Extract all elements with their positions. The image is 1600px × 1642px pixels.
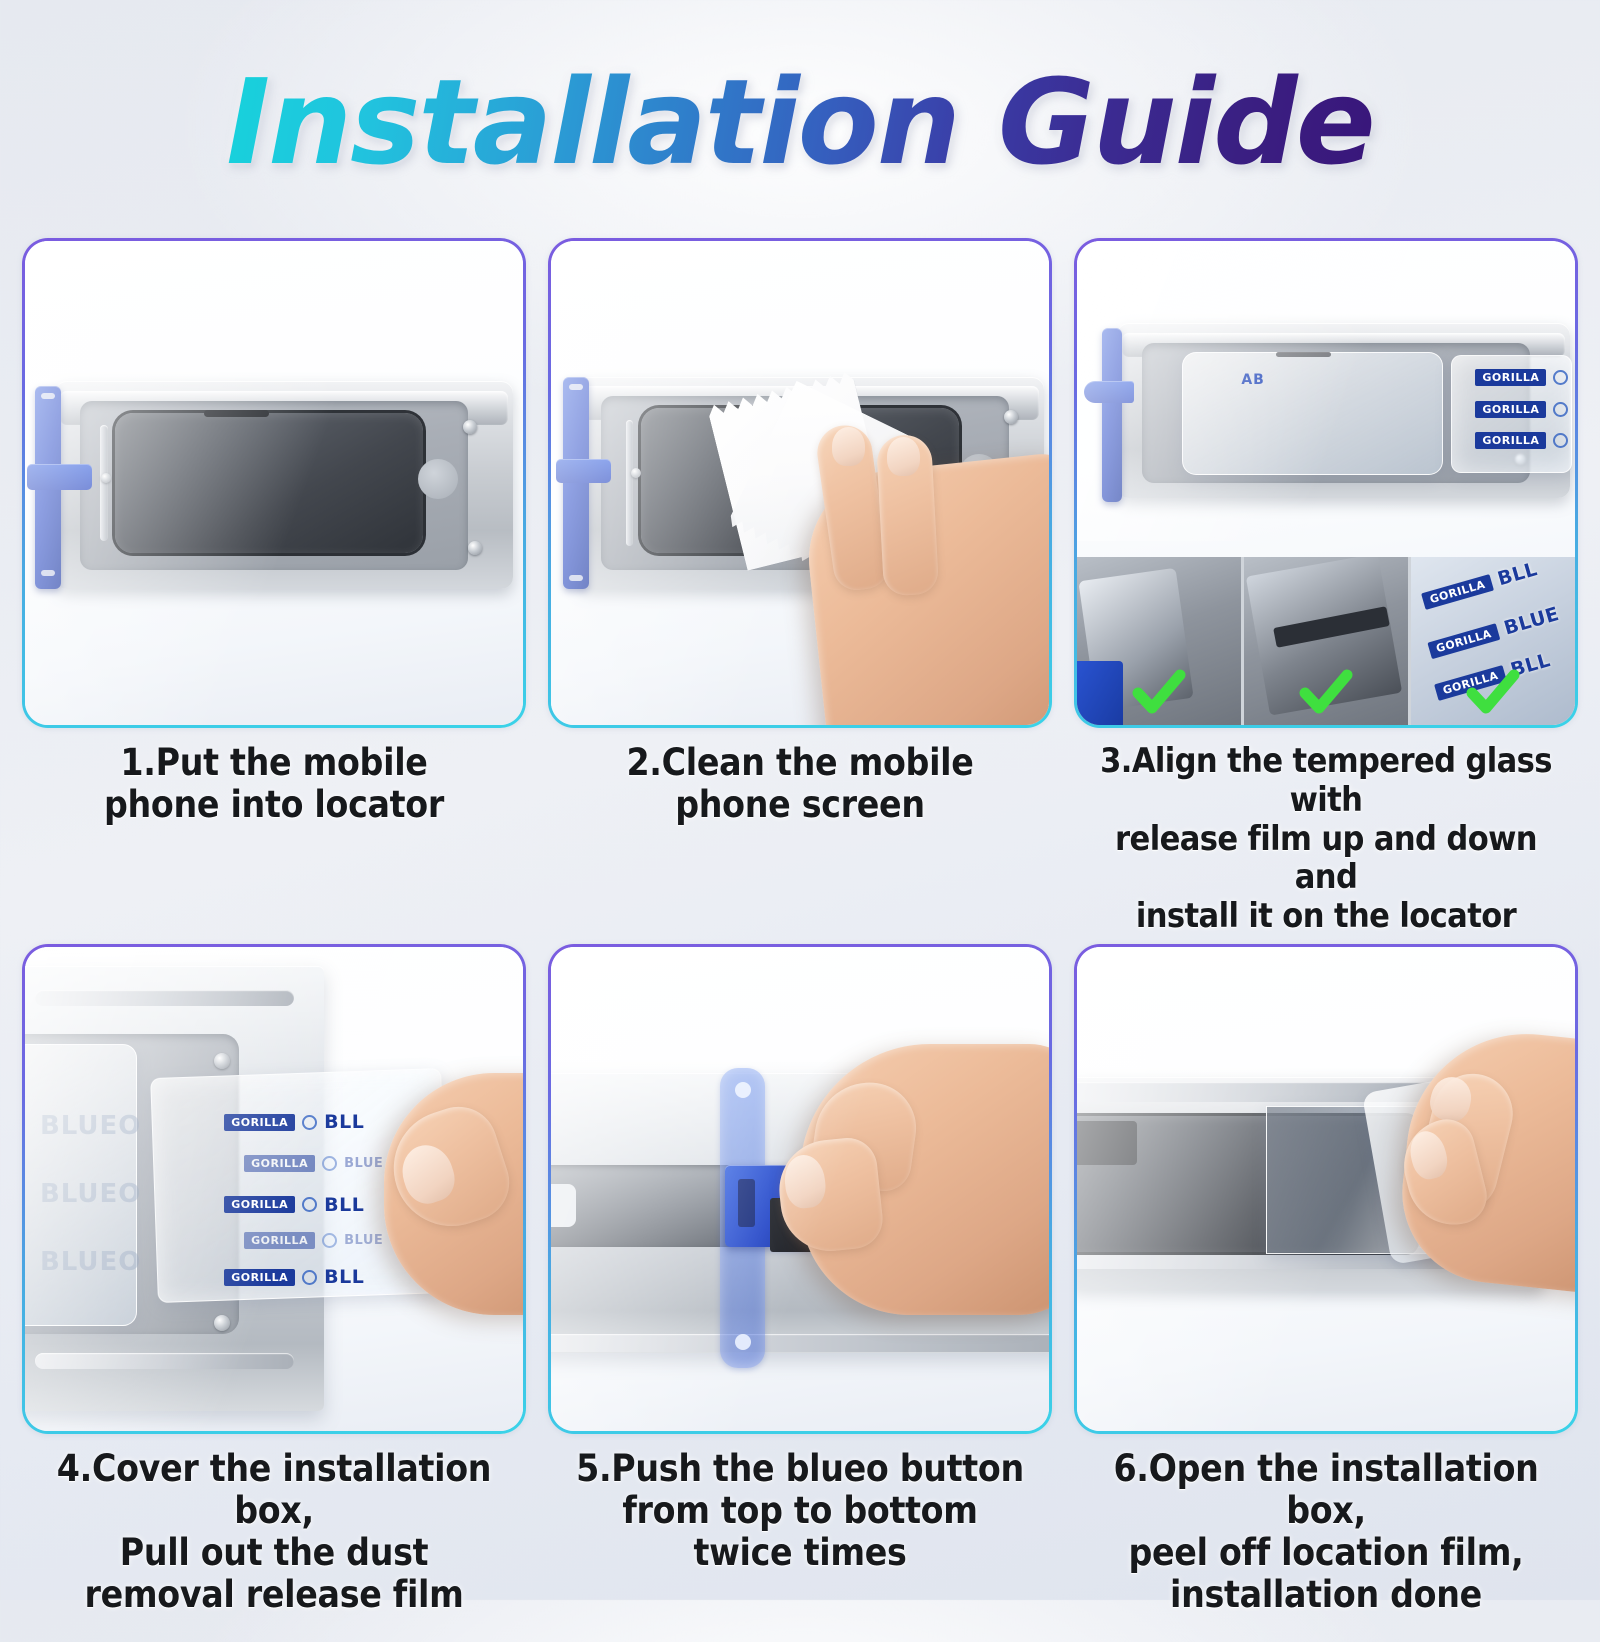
page-title: Installation Guide xyxy=(226,63,1374,181)
film-tag-dot xyxy=(322,1233,337,1248)
film-ghost-word: BLUEO xyxy=(40,1111,141,1141)
film-tag-word: BLUE xyxy=(344,1156,383,1171)
film-ghost-word: BLUEO xyxy=(40,1179,141,1209)
film-tag-chip: GORILLA xyxy=(1475,401,1546,418)
film-tag-chip: GORILLA xyxy=(1475,432,1546,449)
film-tag-word: BLUE xyxy=(344,1233,383,1248)
step-6-photo xyxy=(1074,944,1578,1434)
step-3-photo: AB GORILLA BLL GORILLA BLUE GORILLA xyxy=(1074,238,1578,728)
film-tag-chip: GORILLA xyxy=(1421,573,1494,609)
blue-pull-tab xyxy=(1084,381,1134,403)
step-4-caption: 4.Cover the installation box, Pull out t… xyxy=(22,1448,526,1617)
header: Installation Guide xyxy=(0,52,1600,192)
step-5-image xyxy=(551,947,1049,1431)
film-tag-chip: GORILLA xyxy=(244,1155,315,1172)
film-tag-word: BLL xyxy=(324,1111,364,1133)
check-icon xyxy=(1465,667,1521,717)
step-3-image: AB GORILLA BLL GORILLA BLUE GORILLA xyxy=(1077,241,1575,725)
phone-screen xyxy=(115,413,424,553)
film-tag-dot xyxy=(302,1197,317,1212)
film-tag-chip: GORILLA xyxy=(1475,369,1546,386)
verification-panel-3: GORILLA BLL GORILLA BLUE GORILLA BLL xyxy=(1411,557,1575,725)
step-1-image xyxy=(25,241,523,725)
film-tag-chip: GORILLA xyxy=(1428,623,1501,659)
check-icon xyxy=(1298,667,1354,717)
film-tag-word: BLL xyxy=(1495,558,1540,590)
verification-panel-2 xyxy=(1244,557,1408,725)
step-card-4: BLUEO BLUEO BLUEO GORILLA BLL GORILLA BL… xyxy=(22,944,526,1642)
tempered-glass xyxy=(1182,352,1443,475)
film-tag-dot xyxy=(1553,370,1568,385)
film-tag-dot xyxy=(302,1115,317,1130)
blue-clip xyxy=(563,377,589,590)
film-tag-chip: GORILLA xyxy=(224,1269,295,1286)
film-tag-chip: GORILLA xyxy=(224,1114,295,1131)
step-1-caption: 1.Put the mobile phone into locator xyxy=(22,742,526,826)
verification-panels: GORILLA BLL GORILLA BLUE GORILLA BLL xyxy=(1077,557,1575,725)
film-tag-word: BLUE xyxy=(1502,603,1562,640)
step-5-caption: 5.Push the blueo button from top to bott… xyxy=(548,1448,1052,1575)
step-6-image xyxy=(1077,947,1575,1431)
installation-steps-grid: 1.Put the mobile phone into locator xyxy=(22,238,1578,1642)
step-3-caption: 3.Align the tempered glass with release … xyxy=(1074,742,1578,936)
step-card-6: 6.Open the installation box, peel off lo… xyxy=(1074,944,1578,1642)
step-5-photo xyxy=(548,944,1052,1434)
step-card-5: 5.Push the blueo button from top to bott… xyxy=(548,944,1052,1642)
step-4-image: BLUEO BLUEO BLUEO GORILLA BLL GORILLA BL… xyxy=(25,947,523,1431)
step-card-1: 1.Put the mobile phone into locator xyxy=(22,238,526,936)
step-6-caption: 6.Open the installation box, peel off lo… xyxy=(1074,1448,1578,1617)
film-tag-dot xyxy=(302,1270,317,1285)
step-card-3: AB GORILLA BLL GORILLA BLUE GORILLA xyxy=(1074,238,1578,936)
step-2-image xyxy=(551,241,1049,725)
film-tag-chip: GORILLA xyxy=(244,1232,315,1249)
step-2-caption: 2.Clean the mobile phone screen xyxy=(548,742,1052,826)
film-tag-word: BLL xyxy=(324,1266,364,1288)
step-2-photo xyxy=(548,238,1052,728)
blue-clip xyxy=(1102,328,1122,502)
step-1-photo xyxy=(22,238,526,728)
film-ghost-word: BLUEO xyxy=(40,1247,141,1277)
film-tag-dot xyxy=(1553,433,1568,448)
step-4-photo: BLUEO BLUEO BLUEO GORILLA BLL GORILLA BL… xyxy=(22,944,526,1434)
film-tag-dot xyxy=(322,1156,337,1171)
film-tag-chip: GORILLA xyxy=(224,1196,295,1213)
film-tag-dot xyxy=(1553,402,1568,417)
check-icon xyxy=(1131,667,1187,717)
verification-panel-1 xyxy=(1077,557,1241,725)
film-tag-word: BLL xyxy=(324,1194,364,1216)
glass-logo: AB xyxy=(1241,372,1265,388)
step-card-2: 2.Clean the mobile phone screen xyxy=(548,238,1052,936)
